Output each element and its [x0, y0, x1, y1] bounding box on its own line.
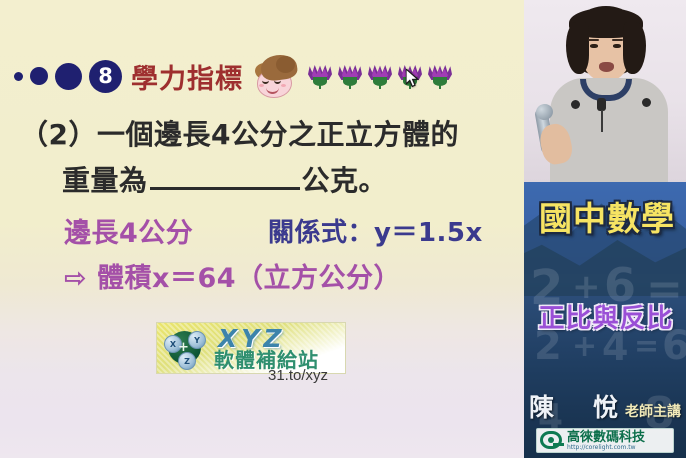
question-line-2: 重量為 公克。 [62, 159, 387, 199]
watermark-logo-icon: X Y Z + [164, 328, 206, 368]
brand-mark-icon [540, 431, 564, 450]
section-number-badge: 8 [89, 60, 122, 93]
lecturer-role: 老師主講 [625, 404, 681, 420]
lesson-slide: 8 學力指標 [0, 0, 524, 458]
flower-icon-1 [307, 63, 333, 89]
flower-icon-4 [397, 63, 423, 89]
flower-icon-2 [337, 63, 363, 89]
question-line-2-prefix: 重量為 [62, 159, 148, 199]
course-title-card: 2 + 6 = 2 + 4 = 6 8 4 國中數學 正比與反比 陳 悅老師主講… [524, 182, 686, 458]
watermark-plus: + [178, 341, 189, 354]
flower-icon-5 [427, 63, 453, 89]
presenter-video[interactable] [524, 0, 686, 182]
flower-rating-row [307, 63, 457, 89]
section-title: 學力指標 [131, 57, 243, 96]
working-given: 邊長4公分 [64, 211, 193, 250]
bullet-dot-1 [14, 72, 23, 81]
brand-name: 高徠數碼科技 [567, 431, 645, 444]
brand-url: http://corelight.com.tw [567, 445, 645, 451]
bullet-dot-3 [55, 63, 82, 90]
screenshot-root: 8 學力指標 [0, 0, 686, 458]
brand-logo: 高徠數碼科技 http://corelight.com.tw [536, 428, 674, 453]
bullet-dot-2 [30, 67, 48, 85]
bg-symbol-8: = [634, 332, 659, 362]
xyz-watermark: X Y Z + XYZ 軟體補給站 31.to/xyz [156, 322, 356, 386]
working-result: ⇨ 體積x＝64（立方公分） [64, 256, 401, 295]
course-title: 國中數學 [528, 192, 686, 240]
working-relation: 關係式：y＝1.5x [268, 212, 483, 249]
answer-blank[interactable] [150, 187, 300, 190]
lecturer-name: 陳 悅 [529, 393, 625, 422]
slide-header: 8 學力指標 [14, 52, 457, 100]
lecturer-credit: 陳 悅老師主講 [524, 388, 686, 424]
question-line-2-suffix: 公克。 [302, 159, 388, 199]
watermark-url: 31.to/xyz [268, 367, 328, 384]
course-subtitle: 正比與反比 [526, 298, 686, 335]
bg-symbol-6: + [572, 332, 597, 362]
girl-mascot-icon [253, 55, 299, 97]
watermark-node-y: Y [188, 331, 206, 349]
flower-icon-3 [367, 63, 393, 89]
question-line-1: （2）一個邊長4公分之正立方體的 [20, 113, 459, 153]
video-panel[interactable]: 2 + 6 = 2 + 4 = 6 8 4 國中數學 正比與反比 陳 悅老師主講… [524, 0, 686, 458]
